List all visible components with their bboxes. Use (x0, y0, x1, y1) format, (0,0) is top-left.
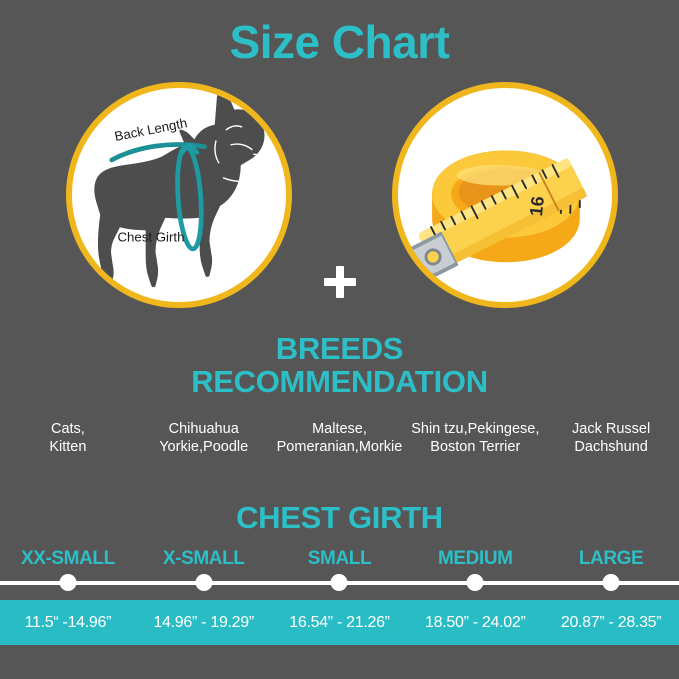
breed-column: Cats, Kitten (0, 420, 136, 456)
timeline-dot-cell (136, 574, 272, 592)
timeline-dot-icon (603, 574, 620, 591)
breed-line: Cats, (2, 420, 134, 438)
size-label: X-SMALL (136, 548, 272, 570)
measurement-value: 16.54” - 21.26” (272, 614, 408, 632)
breed-column: Shin tzu,Pekingese, Boston Terrier (407, 420, 543, 456)
timeline-dot-cell (272, 574, 408, 592)
timeline-dot-icon (331, 574, 348, 591)
back-length-label: Back Length (113, 115, 188, 144)
size-chart-page: Size Chart (0, 0, 679, 679)
size-timeline (0, 574, 679, 592)
breeds-heading-line1: BREEDS (276, 331, 403, 366)
dog-illustration-circle: Back Length Chest Girth (66, 82, 292, 308)
breed-line: Shin tzu,Pekingese, (409, 420, 541, 438)
dog-silhouette-icon: Back Length Chest Girth (72, 88, 286, 302)
timeline-dot-icon (59, 574, 76, 591)
chest-girth-heading: CHEST GIRTH (0, 500, 679, 536)
size-label: MEDIUM (407, 548, 543, 570)
breed-line: Jack Russel (545, 420, 677, 438)
measurement-value: 11.5“ -14.96” (0, 614, 136, 632)
breed-line: Chihuahua (138, 420, 270, 438)
timeline-dot-cell (0, 574, 136, 592)
breed-line: Maltese, (274, 420, 406, 438)
measurement-value: 14.96” - 19.29” (136, 614, 272, 632)
breed-line: Pomeranian,Morkie (274, 438, 406, 456)
breeds-heading-line2: RECOMMENDATION (0, 365, 679, 398)
tape-number-label: 16 (526, 195, 548, 217)
breed-column: Jack Russel Dachshund (543, 420, 679, 456)
timeline-dot-cell (543, 574, 679, 592)
measurement-value: 18.50” - 24.02” (407, 614, 543, 632)
size-label: XX-SMALL (0, 548, 136, 570)
measuring-tape-icon: 16 (398, 88, 612, 302)
breeds-heading: BREEDS RECOMMENDATION (0, 332, 679, 399)
breed-line: Boston Terrier (409, 438, 541, 456)
measuring-tape-circle: 16 (392, 82, 618, 308)
plus-icon-vertical-bar (336, 266, 344, 298)
chest-girth-label: Chest Girth (117, 229, 184, 244)
illustration-row: Back Length Chest Girth (0, 82, 679, 308)
size-label: SMALL (272, 548, 408, 570)
size-label-row: XX-SMALL X-SMALL SMALL MEDIUM LARGE (0, 548, 679, 570)
measurement-value: 20.87” - 28.35” (543, 614, 679, 632)
timeline-dot-icon (467, 574, 484, 591)
timeline-dot-icon (195, 574, 212, 591)
breed-column: Maltese, Pomeranian,Morkie (272, 420, 408, 456)
breed-column: Chihuahua Yorkie,Poodle (136, 420, 272, 456)
breed-line: Kitten (2, 438, 134, 456)
timeline-dots (0, 574, 679, 592)
timeline-dot-cell (407, 574, 543, 592)
breed-line: Yorkie,Poodle (138, 438, 270, 456)
size-label: LARGE (543, 548, 679, 570)
plus-icon (310, 252, 370, 312)
page-title: Size Chart (0, 16, 679, 69)
breeds-row: Cats, Kitten Chihuahua Yorkie,Poodle Mal… (0, 420, 679, 456)
measurement-bar: 11.5“ -14.96” 14.96” - 19.29” 16.54” - 2… (0, 600, 679, 645)
breed-line: Dachshund (545, 438, 677, 456)
